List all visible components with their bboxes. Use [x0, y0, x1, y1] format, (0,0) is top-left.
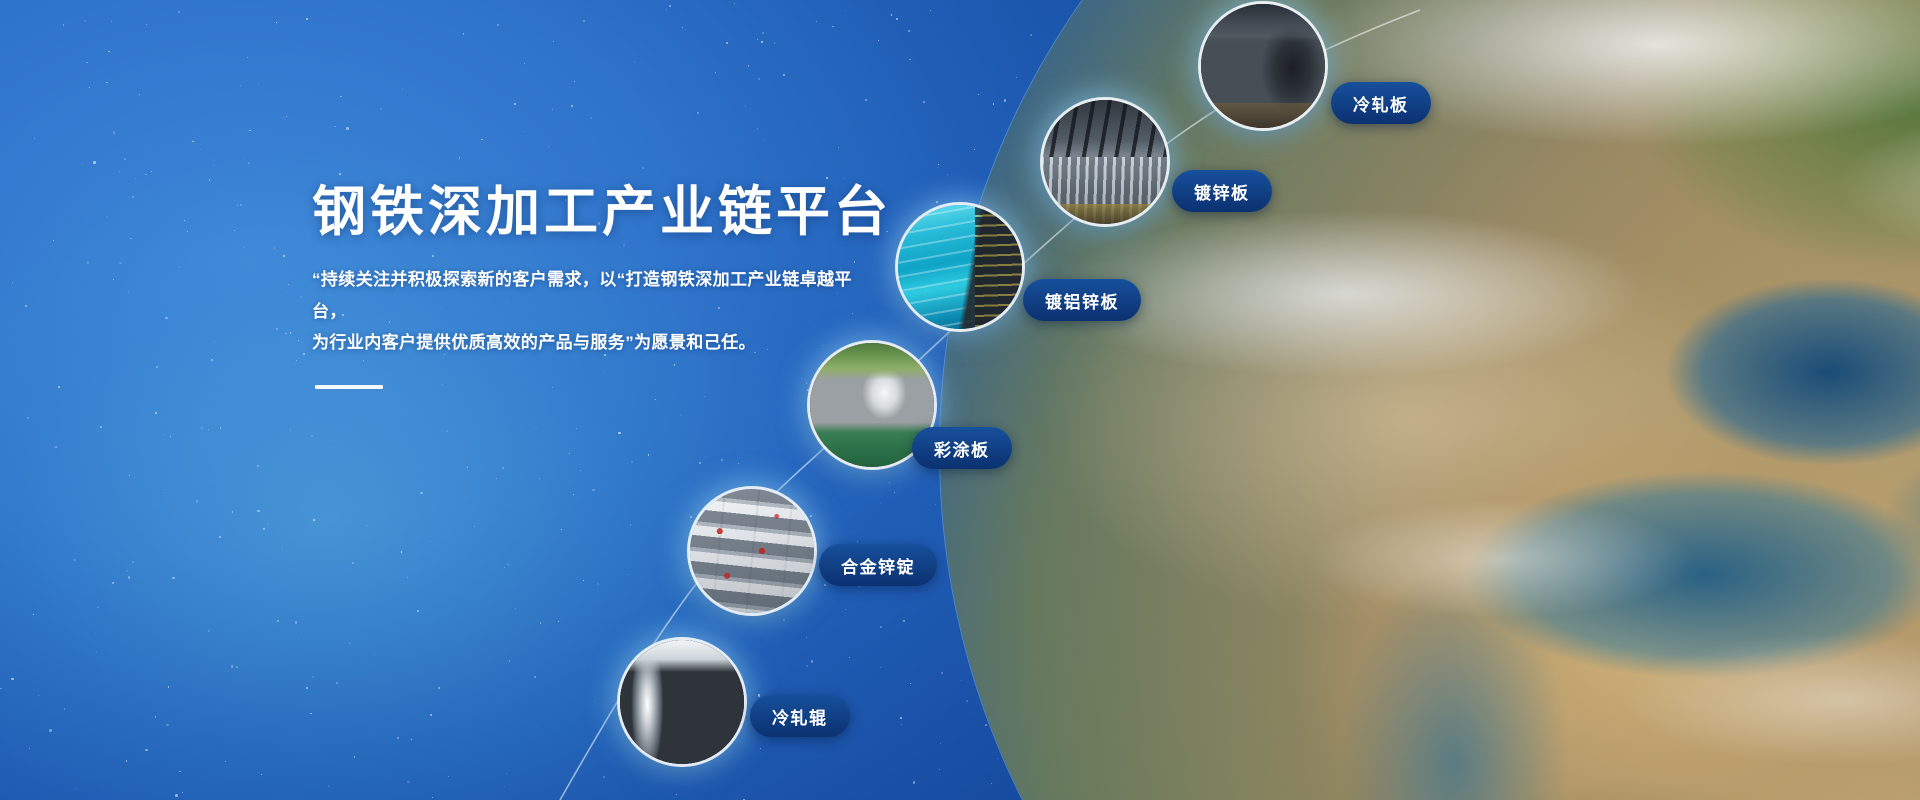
product-label-pill[interactable]: 彩涂板 — [912, 427, 1012, 469]
hero-banner: 钢铁深加工产业链平台 “持续关注并积极探索新的客户需求，以“打造钢铁深加工产业链… — [0, 0, 1920, 800]
product-chain-connector — [0, 0, 1920, 800]
product-label-pill[interactable]: 冷轧辊 — [750, 695, 850, 737]
product-thumbnail[interactable] — [898, 205, 1022, 329]
hero-subtitle-line-2: 为行业内客户提供优质高效的产品与服务”为愿景和己任。 — [312, 327, 872, 358]
product-label-pill[interactable]: 镀锌板 — [1172, 170, 1272, 212]
polished-cold-rolling-rolls-photo — [620, 640, 744, 764]
product-label-text: 冷轧辊 — [772, 704, 828, 729]
product-thumbnail[interactable] — [620, 640, 744, 764]
product-thumbnail[interactable] — [690, 489, 814, 613]
galvalume-cyan-sheet-photo — [898, 205, 1022, 329]
product-label-pill[interactable]: 镀铝锌板 — [1023, 279, 1141, 321]
hero-subtitle-line-1: “持续关注并积极探索新的客户需求，以“打造钢铁深加工产业链卓越平台， — [312, 264, 872, 327]
product-label-pill[interactable]: 合金锌锭 — [819, 544, 937, 586]
product-thumbnail[interactable] — [1201, 4, 1325, 128]
starfield-decoration — [0, 0, 1920, 800]
hero-subtitle: “持续关注并积极探索新的客户需求，以“打造钢铁深加工产业链卓越平台， 为行业内客… — [312, 264, 872, 358]
product-label-text: 镀铝锌板 — [1045, 288, 1119, 313]
product-label-text: 彩涂板 — [934, 436, 990, 461]
product-thumbnail[interactable] — [1043, 100, 1167, 224]
product-label-pill[interactable]: 冷轧板 — [1331, 82, 1431, 124]
title-divider-rule — [315, 385, 383, 389]
product-label-text: 镀锌板 — [1194, 179, 1250, 204]
zinc-alloy-ingot-stacks-photo — [690, 489, 814, 613]
galvanized-coil-warehouse-photo — [1043, 100, 1167, 224]
product-label-text: 合金锌锭 — [841, 553, 915, 578]
product-label-text: 冷轧板 — [1353, 91, 1409, 116]
cold-rolled-steel-coils-photo — [1201, 4, 1325, 128]
